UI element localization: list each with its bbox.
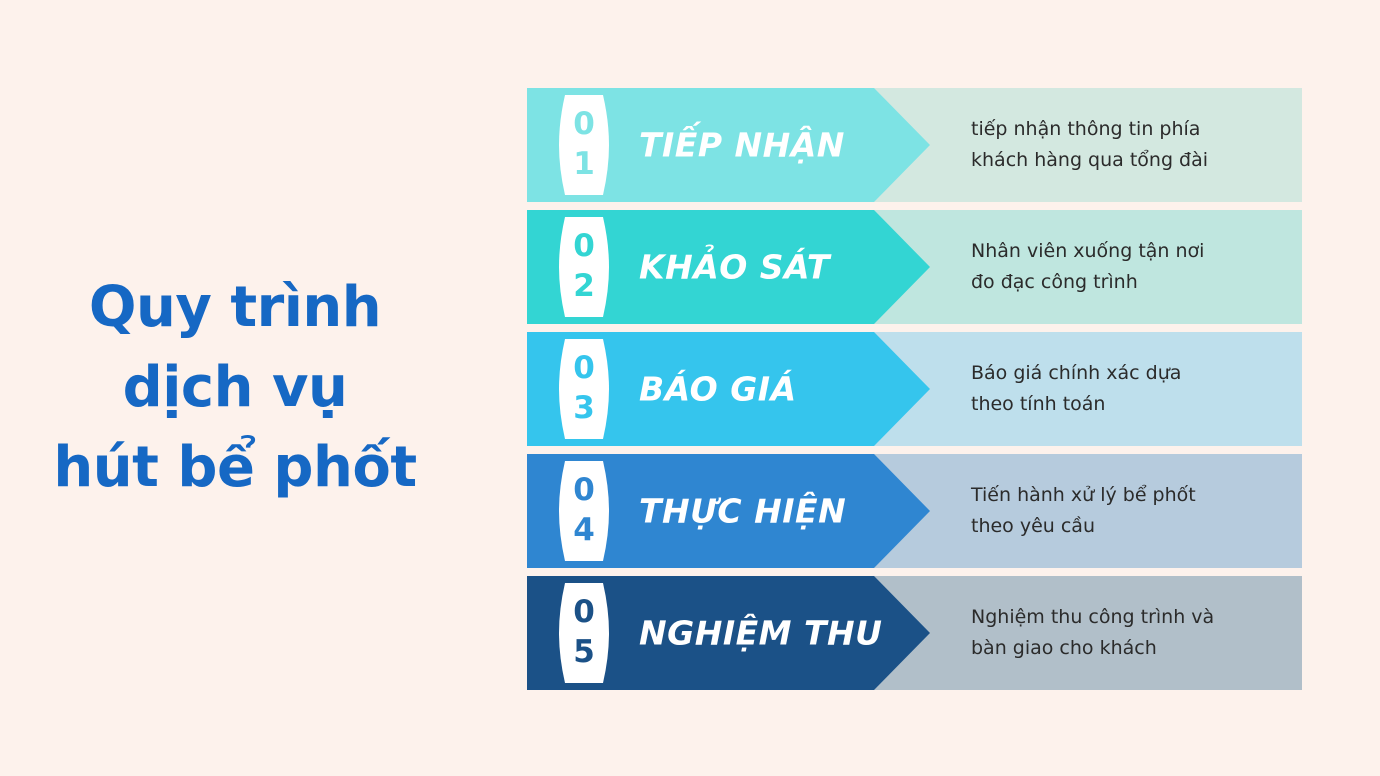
step-description: tiếp nhận thông tin phía khách hàng qua … <box>971 114 1281 176</box>
step-description-line: theo yêu cầu <box>971 511 1281 542</box>
step-number-digit-top: 0 <box>573 227 595 267</box>
step-number-badge: 0 3 <box>557 339 611 439</box>
process-step-row: 0 3 BÁO GIÁ Báo giá chính xác dựa theo t… <box>527 332 1302 446</box>
step-label: BÁO GIÁ <box>639 370 797 409</box>
infographic-canvas: Quy trình dịch vụ hút bể phốt 0 1 <box>0 0 1380 776</box>
step-number-digit-bottom: 2 <box>573 267 595 307</box>
step-description: Nhân viên xuống tận nơi đo đạc công trìn… <box>971 236 1281 298</box>
step-number-digit-top: 0 <box>573 349 595 389</box>
step-number-digit-top: 0 <box>573 105 595 145</box>
step-number-digits: 0 2 <box>557 217 611 317</box>
step-number-digit-bottom: 5 <box>573 633 595 673</box>
title-line-3: hút bể phốt <box>0 428 470 508</box>
step-description-line: Báo giá chính xác dựa <box>971 358 1281 389</box>
page-title: Quy trình dịch vụ hút bể phốt <box>0 268 470 508</box>
step-number-digits: 0 3 <box>557 339 611 439</box>
step-number-badge: 0 4 <box>557 461 611 561</box>
step-description: Tiến hành xử lý bể phốt theo yêu cầu <box>971 480 1281 542</box>
step-label: THỰC HIỆN <box>639 492 846 531</box>
title-line-2: dịch vụ <box>0 348 470 428</box>
step-number-digit-bottom: 4 <box>573 511 595 551</box>
step-number-badge: 0 2 <box>557 217 611 317</box>
step-description-line: Tiến hành xử lý bể phốt <box>971 480 1281 511</box>
step-number-badge: 0 5 <box>557 583 611 683</box>
step-description: Báo giá chính xác dựa theo tính toán <box>971 358 1281 420</box>
step-label: TIẾP NHẬN <box>639 126 845 165</box>
process-step-row: 0 5 NGHIỆM THU Nghiệm thu công trình và … <box>527 576 1302 690</box>
step-description-line: Nhân viên xuống tận nơi <box>971 236 1281 267</box>
step-description-line: tiếp nhận thông tin phía <box>971 114 1281 145</box>
process-step-row: 0 1 TIẾP NHẬN tiếp nhận thông tin phía k… <box>527 88 1302 202</box>
process-step-row: 0 2 KHẢO SÁT Nhân viên xuống tận nơi đo … <box>527 210 1302 324</box>
step-description-line: theo tính toán <box>971 389 1281 420</box>
process-step-list: 0 1 TIẾP NHẬN tiếp nhận thông tin phía k… <box>527 88 1302 692</box>
step-number-digit-bottom: 3 <box>573 389 595 429</box>
step-description-line: bàn giao cho khách <box>971 633 1281 664</box>
step-label: NGHIỆM THU <box>639 614 882 653</box>
step-number-digits: 0 4 <box>557 461 611 561</box>
step-label: KHẢO SÁT <box>639 248 830 287</box>
step-number-digit-bottom: 1 <box>573 145 595 185</box>
step-number-digits: 0 1 <box>557 95 611 195</box>
step-number-digit-top: 0 <box>573 471 595 511</box>
step-number-badge: 0 1 <box>557 95 611 195</box>
step-number-digit-top: 0 <box>573 593 595 633</box>
step-description: Nghiệm thu công trình và bàn giao cho kh… <box>971 602 1281 664</box>
step-description-line: Nghiệm thu công trình và <box>971 602 1281 633</box>
step-description-line: đo đạc công trình <box>971 267 1281 298</box>
step-number-digits: 0 5 <box>557 583 611 683</box>
title-line-1: Quy trình <box>0 268 470 348</box>
step-description-line: khách hàng qua tổng đài <box>971 145 1281 176</box>
process-step-row: 0 4 THỰC HIỆN Tiến hành xử lý bể phốt th… <box>527 454 1302 568</box>
